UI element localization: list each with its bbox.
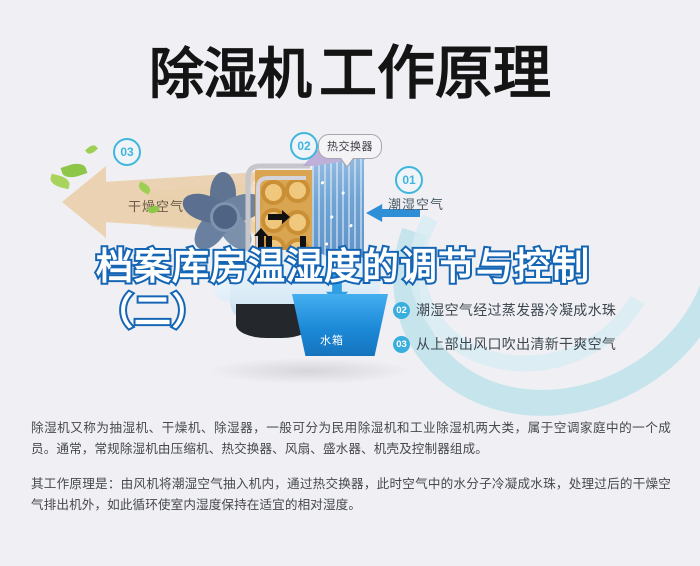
illustration-badge-01: 01 xyxy=(395,166,423,194)
step-list: 02 潮湿空气经过蒸发器冷凝成水珠 03 从上部出风口吹出清新干爽空气 xyxy=(393,300,693,368)
paragraph-1: 除湿机又称为抽湿机、干燥机、除湿器，一般可分为民用除湿机和工业除湿机两大类，属于… xyxy=(31,418,671,460)
humid-air-label: 潮湿空气 xyxy=(388,194,444,213)
step-text: 从上部出风口吹出清新干爽空气 xyxy=(416,334,616,354)
body-copy: 除湿机又称为抽湿机、干燥机、除湿器，一般可分为民用除湿机和工业除湿机两大类，属于… xyxy=(31,418,671,530)
paragraph-2: 其工作原理是：由风机将潮湿空气抽入机内，通过热交换器，此时空气中的水分子冷凝成水… xyxy=(31,474,671,516)
coil-ring xyxy=(285,210,310,235)
fan-hub xyxy=(210,202,240,232)
heat-exchanger-callout: 热交换器 xyxy=(318,134,382,159)
coil-ring xyxy=(261,208,286,233)
illustration-badge-03: 03 xyxy=(113,138,141,166)
step-badge: 02 xyxy=(393,302,410,319)
page-title: 除湿机 工作原理 xyxy=(149,26,551,110)
page-title-part1: 除湿机 xyxy=(149,29,311,109)
page-title-part2: 工作原理 xyxy=(319,26,551,110)
water-tank-label: 水箱 xyxy=(320,332,344,348)
coil-ring xyxy=(285,178,310,203)
list-item: 03 从上部出风口吹出清新干爽空气 xyxy=(393,334,693,354)
step-badge: 03 xyxy=(393,336,410,353)
unit-shadow xyxy=(210,358,410,384)
infographic-page: 除湿机 工作原理 干燥空气 xyxy=(0,0,700,566)
step-text: 潮湿空气经过蒸发器冷凝成水珠 xyxy=(416,300,616,320)
list-item: 02 潮湿空气经过蒸发器冷凝成水珠 xyxy=(393,300,693,320)
leaf-icon xyxy=(85,143,98,155)
illustration-badge-02: 02 xyxy=(290,132,318,160)
coil-ring xyxy=(261,180,286,205)
